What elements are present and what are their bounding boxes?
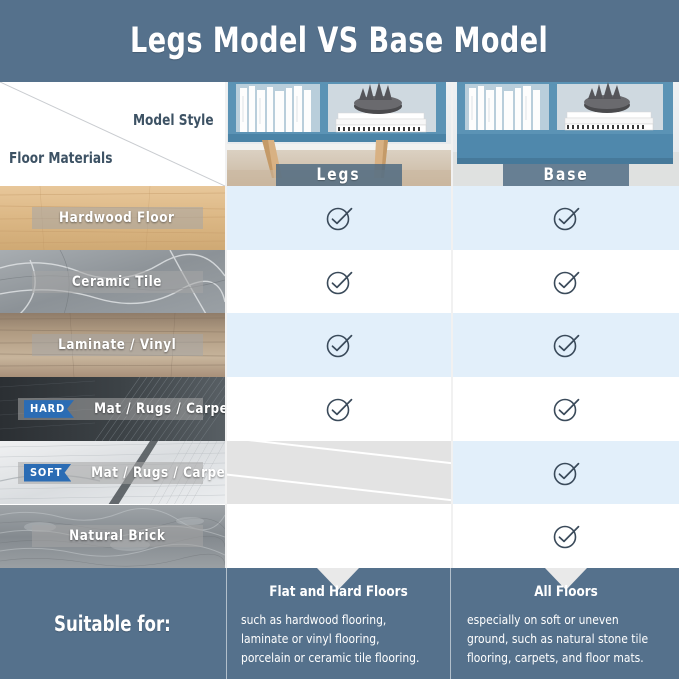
material-label-band: Ceramic Tile [32, 271, 203, 293]
base-suitability-body: especially on soft or uneven ground, suc… [467, 611, 655, 668]
grid-divider-right [451, 82, 453, 568]
legs-suitability-cell: Flat and Hard Floors such as hardwood fl… [226, 568, 451, 679]
legs-availability-cell [226, 377, 451, 441]
base-column-label: Base [543, 165, 588, 185]
footer-bar: Suitable for: Flat and Hard Floors such … [0, 568, 679, 679]
material-label-cell: Natural Brick [0, 505, 225, 569]
corner-diagonal-divider [0, 82, 225, 186]
legs-availability-cell [226, 441, 451, 505]
check-circle-icon [551, 203, 581, 233]
base-suitability-heading: All Floors [475, 584, 657, 600]
legs-suitability-body: such as hardwood flooring, laminate or v… [241, 611, 426, 668]
material-label-band: Laminate / Vinyl [32, 334, 203, 356]
material-label-band: Natural Brick [32, 525, 203, 547]
check-circle-icon [324, 203, 354, 233]
material-tag: SOFT [24, 464, 71, 482]
legs-suitability-heading: Flat and Hard Floors [249, 584, 428, 600]
base-availability-cell [453, 313, 679, 377]
material-label-band: SOFTMat / Rugs / Carpet [18, 462, 203, 484]
base-column-label-band: Base [503, 164, 630, 186]
material-name: Ceramic Tile [72, 274, 162, 290]
check-circle-icon [551, 458, 581, 488]
check-circle-icon [551, 330, 581, 360]
corner-header-cell: Model Style Floor Materials [0, 82, 225, 186]
legs-availability-cell [226, 313, 451, 377]
material-name: Mat / Rugs / Carpet [91, 465, 225, 481]
base-availability-cell [453, 186, 679, 250]
check-circle-icon [324, 330, 354, 360]
check-circle-icon [324, 267, 354, 297]
material-name: Mat / Rugs / Carpet [94, 401, 225, 417]
comparison-infographic: Legs Model VS Base Model Model Style Flo… [0, 0, 679, 679]
page-title: Legs Model VS Base Model [130, 21, 548, 61]
legs-availability-cell [226, 186, 451, 250]
model-style-label: Model Style [133, 111, 214, 129]
legs-photo-header: Legs [226, 82, 451, 186]
suitable-for-label: Suitable for: [54, 612, 171, 636]
base-availability-cell [453, 441, 679, 505]
base-availability-cell [453, 250, 679, 314]
material-label-cell: SOFTMat / Rugs / Carpet [0, 441, 225, 505]
floor-materials-label: Floor Materials [9, 149, 112, 167]
material-name: Laminate / Vinyl [58, 337, 176, 353]
material-label-band: Hardwood Floor [32, 207, 203, 229]
comparison-grid: Model Style Floor Materials [0, 82, 679, 568]
legs-column-label-band: Legs [276, 164, 402, 186]
material-tag: HARD [24, 400, 74, 418]
material-name: Hardwood Floor [59, 210, 174, 226]
check-circle-icon [551, 267, 581, 297]
material-label-band: HARDMat / Rugs / Carpet [18, 398, 203, 420]
check-circle-icon [551, 521, 581, 551]
suitable-for-cell: Suitable for: [0, 568, 225, 679]
material-label-cell: Laminate / Vinyl [0, 313, 225, 377]
material-name: Natural Brick [69, 528, 165, 544]
base-suitability-cell: All Floors especially on soft or uneven … [453, 568, 679, 679]
legs-availability-cell [226, 250, 451, 314]
base-availability-cell [453, 505, 679, 569]
base-availability-cell [453, 377, 679, 441]
material-label-cell: HARDMat / Rugs / Carpet [0, 377, 225, 441]
grid-divider-left [225, 82, 227, 568]
legs-column-label: Legs [316, 165, 360, 185]
check-circle-icon [551, 394, 581, 424]
material-label-cell: Ceramic Tile [0, 250, 225, 314]
check-circle-icon [324, 394, 354, 424]
header-bar: Legs Model VS Base Model [0, 0, 679, 82]
base-photo-header: Base [453, 82, 679, 186]
material-label-cell: Hardwood Floor [0, 186, 225, 250]
